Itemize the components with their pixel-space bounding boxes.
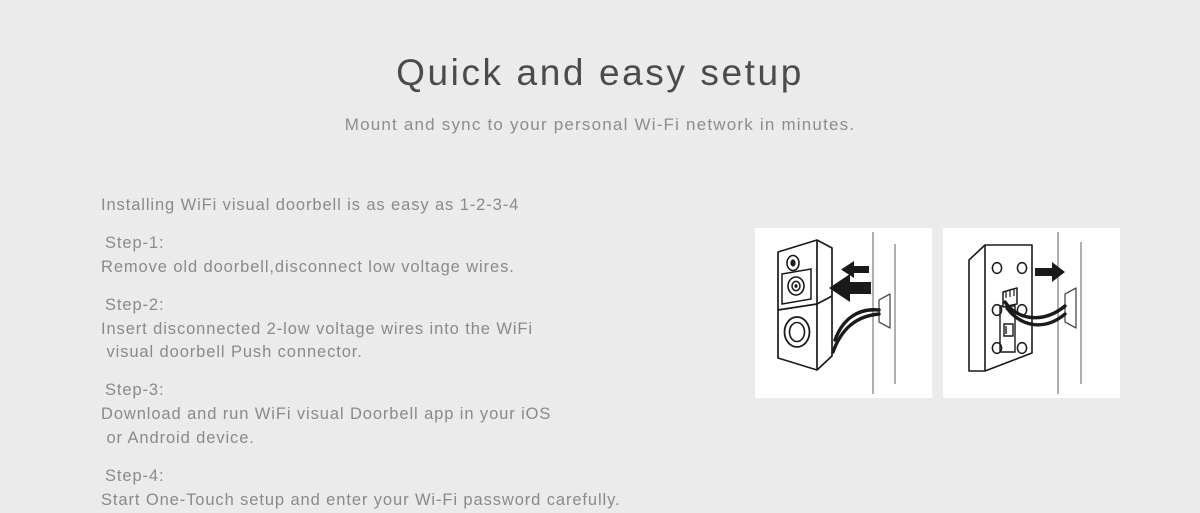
- instructions-intro: Installing WiFi visual doorbell is as ea…: [101, 193, 721, 218]
- step-label: Step-4:: [105, 465, 721, 489]
- doorbell-unit: [778, 240, 832, 370]
- page-title: Quick and easy setup: [0, 0, 1200, 95]
- arrow-left-upper-icon: [841, 261, 869, 278]
- step-item: Step-1: Remove old doorbell,disconnect l…: [101, 232, 721, 280]
- low-voltage-wires: [833, 310, 879, 352]
- doorbell-sensor: [787, 256, 799, 271]
- mounting-bracket-diagram: [943, 228, 1120, 398]
- doorbell-wiring-illustration: [755, 228, 932, 398]
- step-item: Step-3: Download and run WiFi visual Doo…: [101, 379, 721, 451]
- diagram-gallery: [755, 228, 1120, 398]
- doorbell-camera-panel: [782, 269, 811, 304]
- wall-plate: [879, 294, 890, 328]
- step-item: Step-4: Start One-Touch setup and enter …: [101, 465, 721, 513]
- arrow-left-lower-icon: [829, 274, 871, 302]
- step-body: Remove old doorbell,disconnect low volta…: [101, 256, 721, 280]
- step-label: Step-1:: [105, 232, 721, 256]
- step-label: Step-3:: [105, 379, 721, 403]
- header: Quick and easy setup Mount and sync to y…: [0, 0, 1200, 135]
- mounting-bracket-illustration: [943, 228, 1120, 398]
- doorbell-wiring-diagram: [755, 228, 932, 398]
- step-body: Download and run WiFi visual Doorbell ap…: [101, 403, 721, 451]
- instructions-section: Installing WiFi visual doorbell is as ea…: [101, 193, 721, 513]
- arrow-right-icon: [1035, 262, 1065, 282]
- step-label: Step-2:: [105, 294, 721, 318]
- step-body: Insert disconnected 2-low voltage wires …: [101, 318, 721, 366]
- step-body: Start One-Touch setup and enter your Wi-…: [101, 489, 721, 513]
- page-root: Quick and easy setup Mount and sync to y…: [0, 0, 1200, 500]
- doorbell-push-button: [785, 317, 810, 347]
- wall-plate: [1065, 288, 1076, 328]
- page-subtitle: Mount and sync to your personal Wi-Fi ne…: [0, 95, 1200, 135]
- step-item: Step-2: Insert disconnected 2-low voltag…: [101, 294, 721, 366]
